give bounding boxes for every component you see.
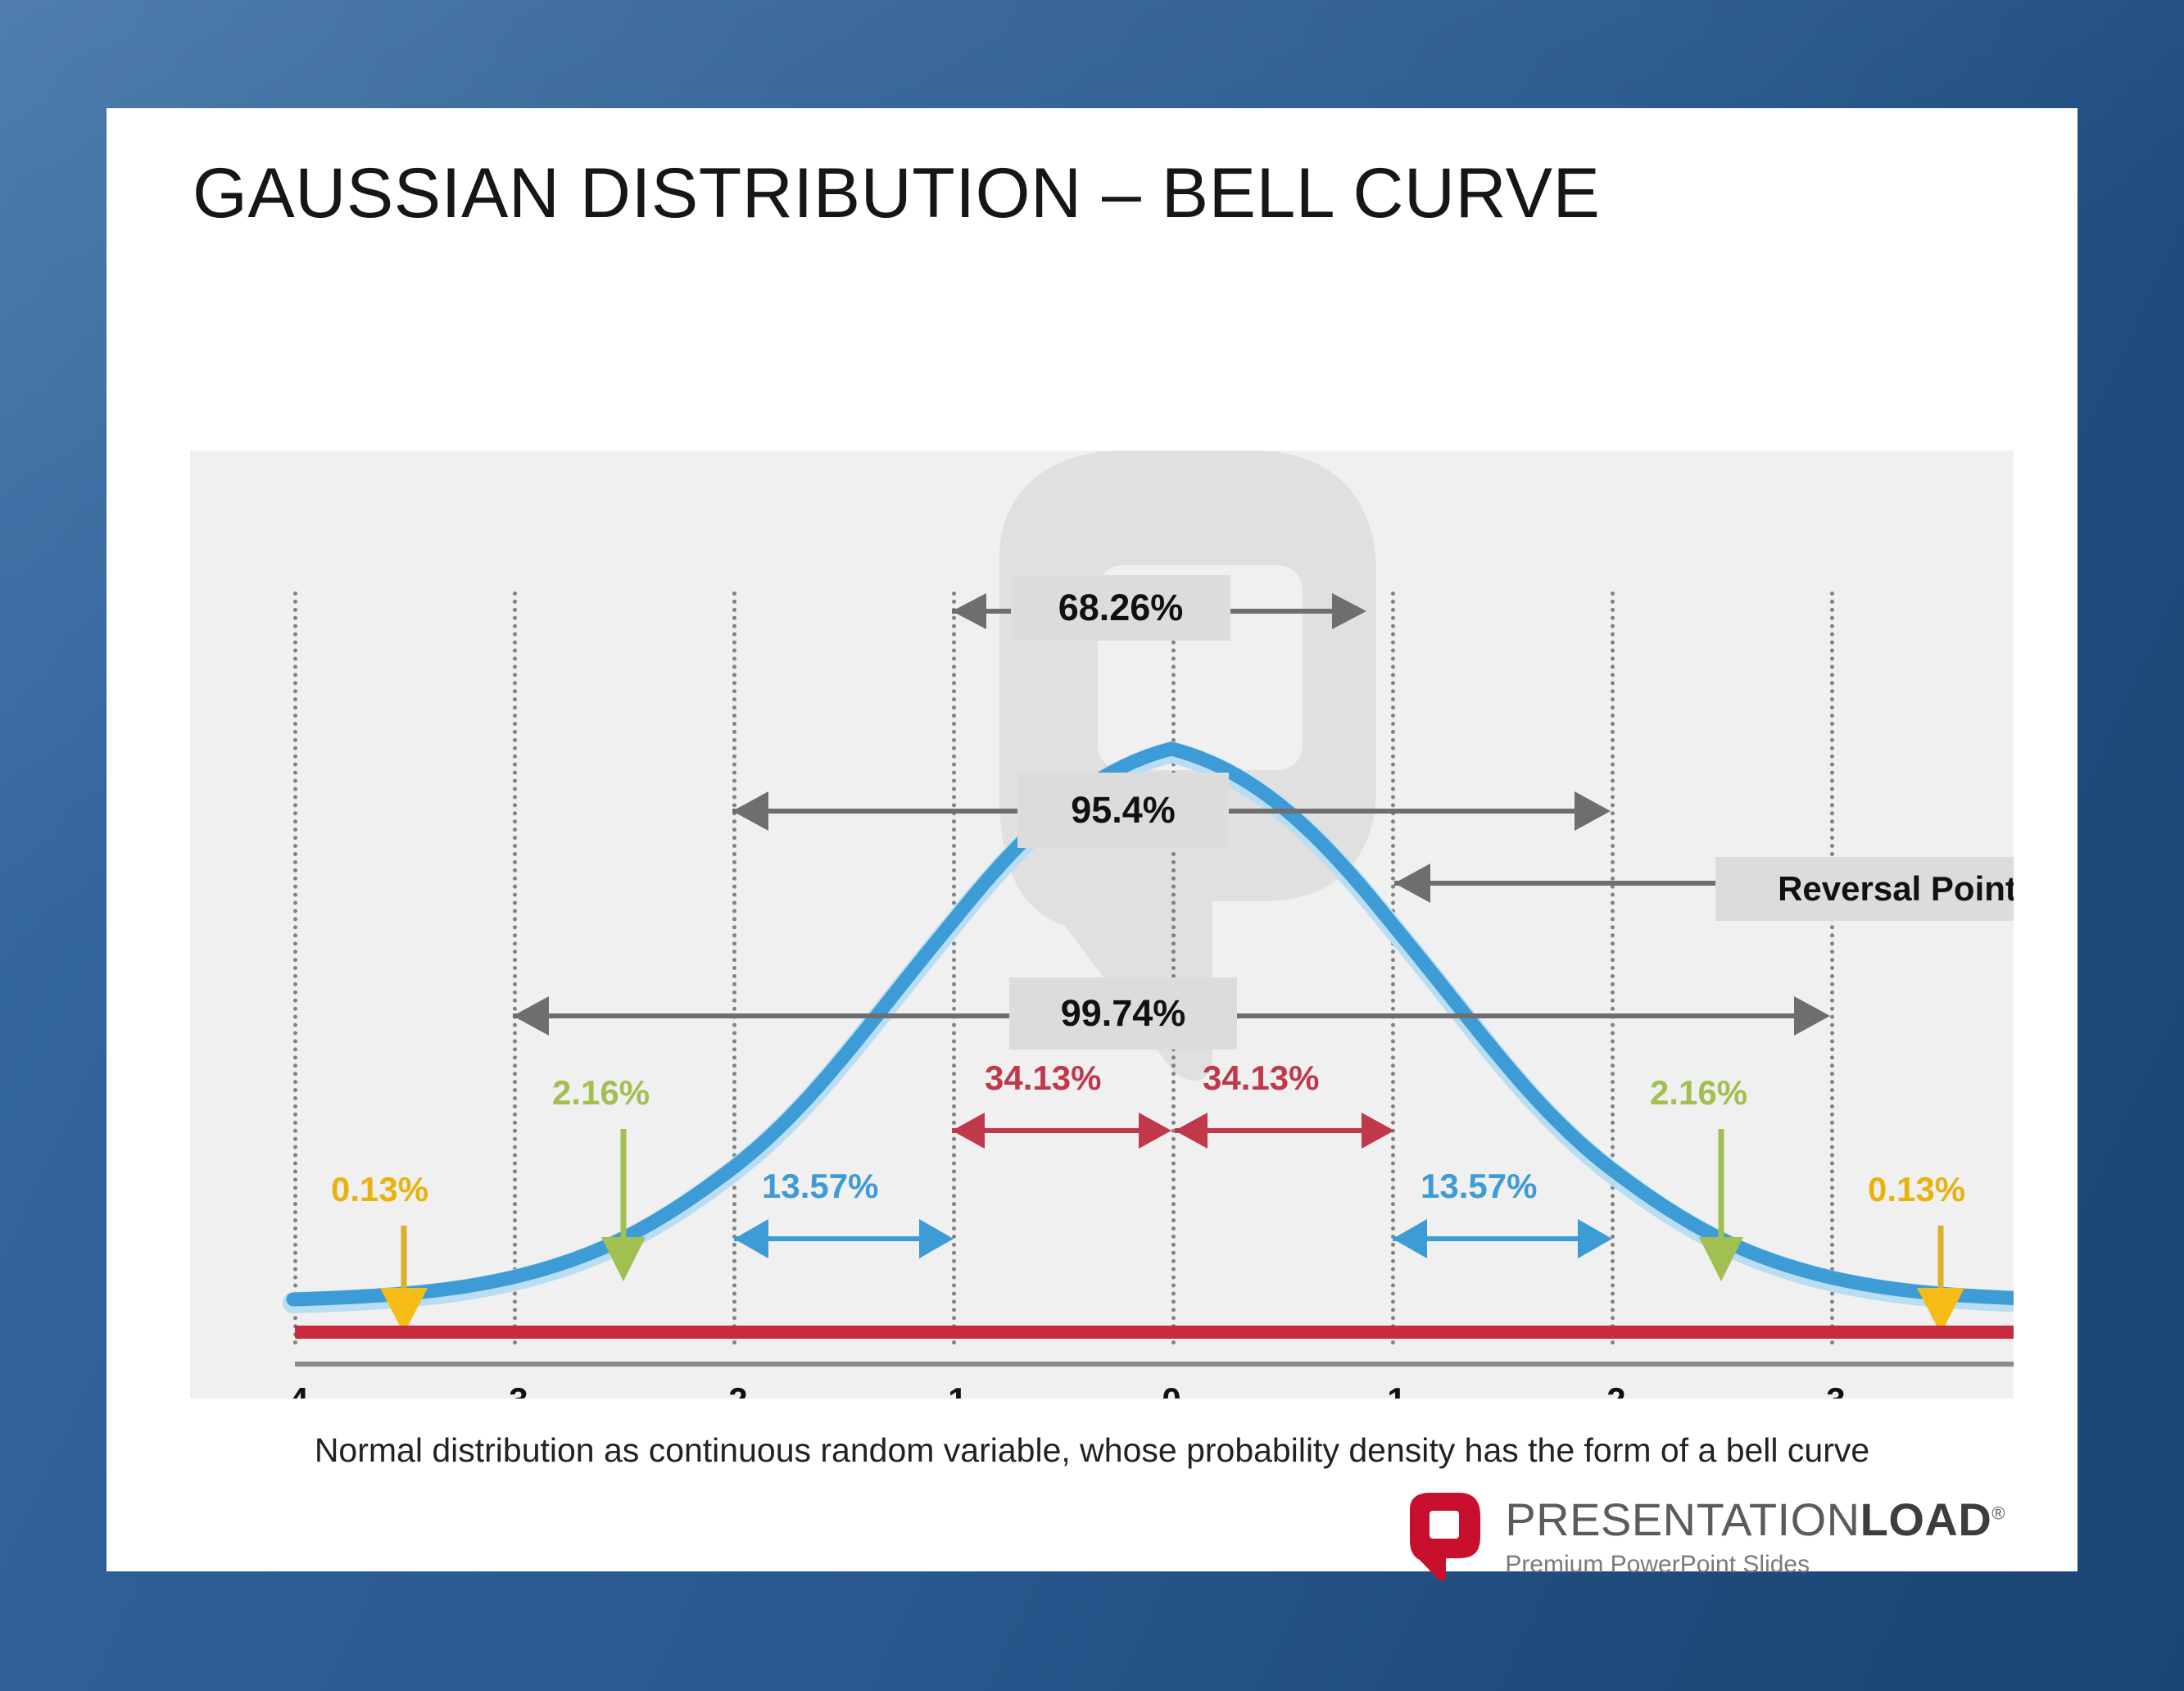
span-label-95-text: 95.4% xyxy=(1071,789,1176,832)
xtick-3: -1 xyxy=(936,1380,967,1399)
span-label-68-text: 68.26% xyxy=(1058,587,1184,629)
bell-curve-chart: 68.26% 95.4% Reversal Point 99.74% xyxy=(190,451,2014,1399)
xtick-6: -2 xyxy=(1595,1380,1625,1399)
logo-registered-mark: ® xyxy=(1991,1503,2005,1523)
span-label-95: 95.4% xyxy=(1017,773,1229,848)
point-label-216-left: 2.16% xyxy=(552,1073,650,1113)
point-arrow-216-right xyxy=(1692,1129,1750,1285)
xtick-7: -3 xyxy=(1815,1380,1845,1399)
span-arrow-13-right xyxy=(1371,1216,1633,1262)
presentationload-mark-icon xyxy=(1405,1491,1484,1583)
xtick-2: -2 xyxy=(717,1380,747,1399)
span-label-99: 99.74% xyxy=(1009,977,1237,1050)
point-label-013-left: 0.13% xyxy=(331,1170,428,1209)
span-label-34-right: 34.13% xyxy=(1203,1059,1319,1098)
logo-name-bold: LOAD xyxy=(1860,1494,1992,1545)
span-arrow-13-left xyxy=(713,1216,975,1262)
x-axis-line xyxy=(295,1362,2014,1367)
reversal-point-arrow xyxy=(1370,860,1738,909)
span-label-68: 68.26% xyxy=(1011,575,1230,641)
slide-caption: Normal distribution as continuous random… xyxy=(106,1431,2078,1470)
span-label-13-right: 13.57% xyxy=(1421,1167,1537,1206)
point-label-216-right: 2.16% xyxy=(1650,1073,1747,1113)
xtick-4: 0 xyxy=(1162,1380,1180,1399)
slide-canvas: GAUSSIAN DISTRIBUTION – BELL CURVE 68 xyxy=(106,108,2078,1571)
reversal-point-text: Reversal Point xyxy=(1778,869,2014,909)
logo-wordmark: PRESENTATIONLOAD® xyxy=(1505,1497,2005,1543)
xtick-1: -3 xyxy=(497,1380,528,1399)
presentationload-logo: PRESENTATIONLOAD® Premium PowerPoint Sli… xyxy=(1405,1491,2005,1583)
xtick-0: -4 xyxy=(278,1380,308,1399)
point-arrow-216-left xyxy=(595,1129,652,1285)
point-arrow-013-left xyxy=(375,1226,433,1340)
span-arrow-34-right xyxy=(1153,1108,1416,1154)
page-title: GAUSSIAN DISTRIBUTION – BELL CURVE xyxy=(193,153,1600,234)
span-label-34-left: 34.13% xyxy=(985,1059,1101,1098)
xtick-5: -1 xyxy=(1375,1380,1406,1399)
point-label-013-right: 0.13% xyxy=(1868,1170,1965,1209)
span-label-13-left: 13.57% xyxy=(762,1167,878,1206)
span-label-99-text: 99.74% xyxy=(1061,992,1186,1035)
logo-text: PRESENTATIONLOAD® Premium PowerPoint Sli… xyxy=(1505,1497,2005,1577)
logo-name-light: PRESENTATION xyxy=(1505,1494,1860,1545)
point-arrow-013-right xyxy=(1912,1226,1969,1340)
reversal-baseline xyxy=(295,1326,2014,1339)
logo-tagline: Premium PowerPoint Slides xyxy=(1505,1553,2005,1577)
reversal-point-label: Reversal Point xyxy=(1715,857,2014,921)
